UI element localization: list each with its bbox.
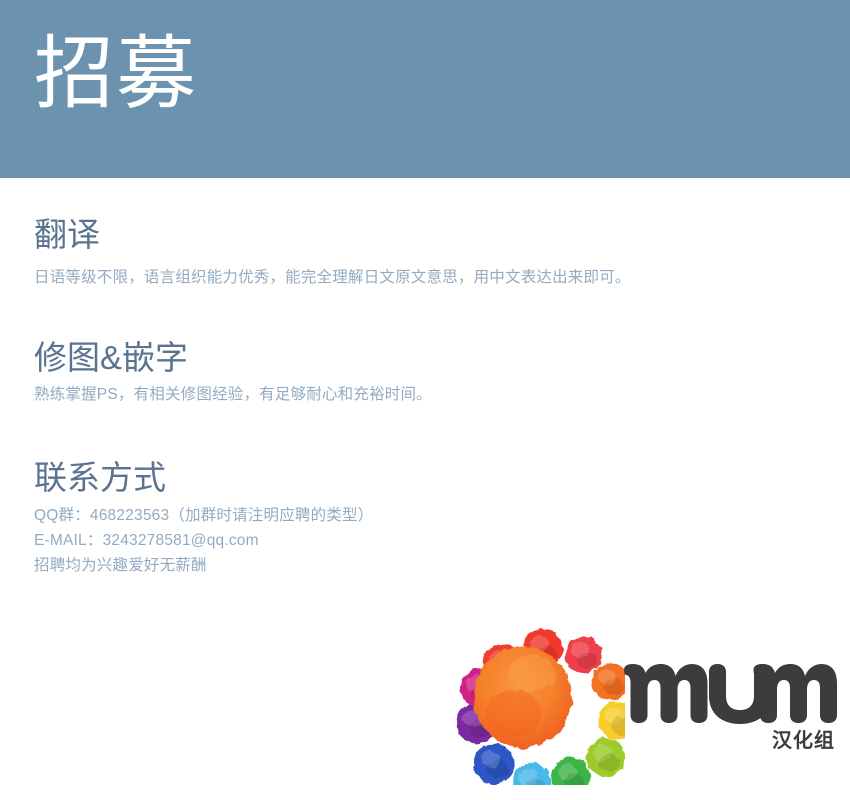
section-retouch-body: 熟练掌握PS，有相关修图经验，有足够耐心和充裕时间。 [34,383,432,407]
dot-orange [592,663,625,700]
section-retouch-heading: 修图&嵌字 [34,341,432,376]
dot-light-blue [513,763,552,785]
contact-line-email: E-MAIL：3243278581@qq.com [34,528,373,553]
section-translate-body: 日语等级不限，语言组织能力优秀，能完全理解日文原文意思，用中文表达出来即可。 [34,266,631,290]
page-title: 招募 [34,34,198,114]
logo-text-block: 汉化组 [622,663,837,751]
section-translate: 翻译 日语等级不限，语言组织能力优秀，能完全理解日文原文意思，用中文表达出来即可… [34,218,631,290]
dot-yellow-green [587,738,626,777]
contact-line-qq: QQ群：468223563（加群时请注明应聘的类型） [34,503,373,528]
logo-center-blob [474,647,572,749]
section-contact: 联系方式 QQ群：468223563（加群时请注明应聘的类型） E-MAIL：3… [34,461,373,578]
logo-watercolor-mark [440,605,625,785]
logo-wordmark-mum [622,663,837,725]
dot-red-pink [565,636,602,673]
section-contact-heading: 联系方式 [34,461,373,496]
logo: 汉化组 [440,605,840,790]
dot-blue [474,743,515,784]
header-banner: 招募 [0,0,850,178]
logo-subtitle: 汉化组 [622,731,837,751]
dot-green [551,757,590,785]
contact-line-note: 招聘均为兴趣爱好无薪酬 [34,553,373,578]
contact-list: QQ群：468223563（加群时请注明应聘的类型） E-MAIL：324327… [34,503,373,578]
section-translate-heading: 翻译 [34,218,631,253]
section-retouch: 修图&嵌字 熟练掌握PS，有相关修图经验，有足够耐心和充裕时间。 [34,341,432,407]
